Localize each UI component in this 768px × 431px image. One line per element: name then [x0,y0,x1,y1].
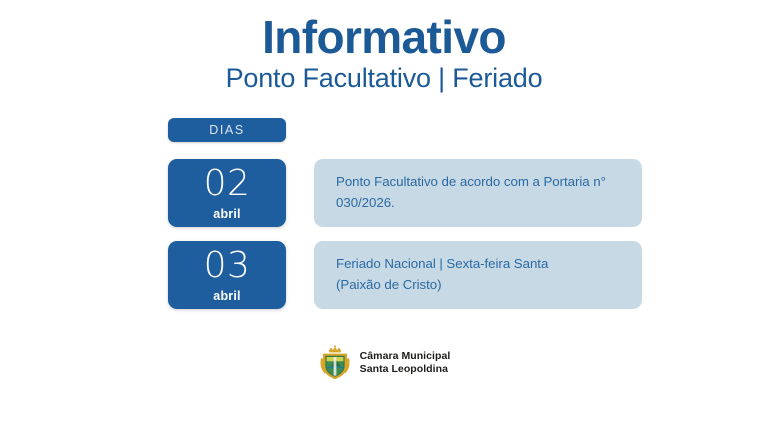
footer-organization-name: Câmara Municipal Santa Leopoldina [360,350,451,376]
page-title: Informativo [0,14,768,60]
description-text: Feriado Nacional | Sexta-feira Santa (Pa… [336,254,548,295]
days-list: 02 abril Ponto Facultativo de acordo com… [168,159,642,309]
footer-org-line-2: Santa Leopoldina [360,363,451,376]
days-section: DIAS 02 abril Ponto Facultativo de acord… [168,118,642,323]
date-month-label: abril [213,290,240,303]
list-item: 03 abril Feriado Nacional | Sexta-feira … [168,241,642,309]
days-column-header-label: DIAS [209,123,245,137]
informative-poster: Informativo Ponto Facultativo | Feriado … [0,0,768,431]
coat-of-arms-crest-icon [318,345,352,381]
description-panel: Ponto Facultativo de acordo com a Portar… [314,159,642,227]
date-box: 03 abril [168,241,286,309]
date-day-number: 02 [204,166,251,202]
footer-org-line-1: Câmara Municipal [360,350,451,363]
date-month-label: abril [213,208,240,221]
page-subtitle: Ponto Facultativo | Feriado [0,64,768,92]
days-column-header-badge: DIAS [168,118,286,142]
description-text: Ponto Facultativo de acordo com a Portar… [336,172,620,213]
poster-footer: Câmara Municipal Santa Leopoldina [0,345,768,381]
date-day-number: 03 [204,248,251,284]
description-panel: Feriado Nacional | Sexta-feira Santa (Pa… [314,241,642,309]
date-box: 02 abril [168,159,286,227]
list-item: 02 abril Ponto Facultativo de acordo com… [168,159,642,227]
poster-header: Informativo Ponto Facultativo | Feriado [0,0,768,92]
footer-logo-lockup: Câmara Municipal Santa Leopoldina [318,345,451,381]
